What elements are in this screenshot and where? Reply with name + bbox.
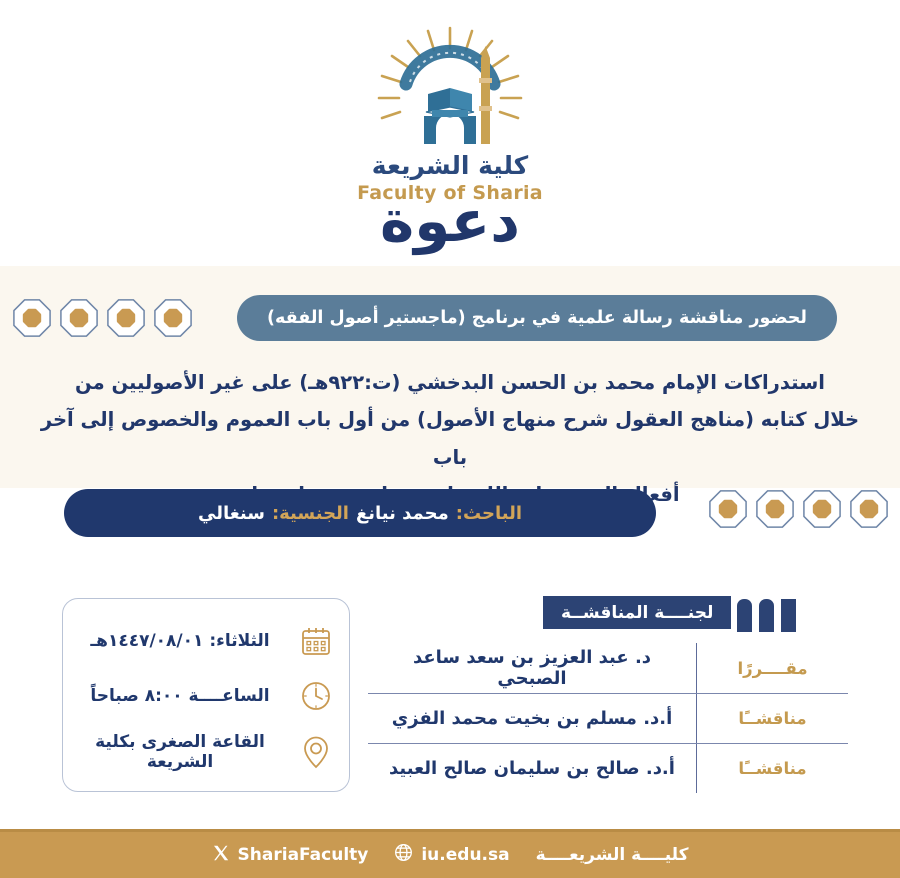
committee-member-role: مناقشــًا	[696, 694, 848, 743]
calendar-icon	[297, 622, 335, 660]
clock-icon	[297, 677, 335, 715]
faculty-name-arabic: كلية الشريعة	[372, 152, 528, 180]
event-location-row: القاعة الصغرى بكلية الشريعة	[77, 732, 335, 772]
location-pin-icon	[297, 733, 335, 771]
event-time-row: الساعــــة ٨:٠٠ صباحاً	[77, 677, 335, 715]
x-twitter-icon	[212, 844, 230, 867]
table-row: مقــــررًا د. عبد العزيز بن سعد ساعد الص…	[368, 643, 848, 693]
committee-heading-block: لجنــــة المناقشــة	[543, 596, 796, 632]
faculty-logo-block: كلية الشريعة Faculty of Sharia	[0, 22, 900, 204]
committee-member-role: مقــــررًا	[696, 643, 848, 693]
program-banner: لحضور مناقشة رسالة علمية في برنامج (ماجس…	[237, 295, 837, 341]
researcher-label: الباحث:	[456, 503, 522, 524]
nationality-label: الجنسية:	[272, 503, 349, 524]
event-date-row: الثلاثاء: ١٤٤٧/٠٨/٠١هـ	[77, 622, 335, 660]
event-details-card: الثلاثاء: ١٤٤٧/٠٨/٠١هـ الساعــــة ٨:٠٠ ص…	[62, 598, 350, 792]
committee-decorative-bars-icon	[737, 596, 796, 632]
table-row: مناقشــًا أ.د. صالح بن سليمان صالح العبي…	[368, 743, 848, 793]
committee-heading: لجنــــة المناقشــة	[543, 596, 731, 629]
globe-icon	[394, 843, 413, 867]
footer-bar: كليــــة الشريعــــة iu.edu.sa ShariaFac…	[0, 832, 900, 878]
committee-member-name: أ.د. مسلم بن بخيت محمد الفزي	[368, 708, 696, 729]
program-banner-text: لحضور مناقشة رسالة علمية في برنامج (ماجس…	[267, 308, 807, 328]
event-time-text: الساعــــة ٨:٠٠ صباحاً	[77, 686, 283, 706]
committee-member-role: مناقشــًا	[696, 744, 848, 793]
islamic-eight-point-star-icon	[700, 481, 756, 541]
university-mosque-emblem-icon	[366, 22, 534, 146]
page-title: دعوة	[0, 192, 900, 250]
researcher-nationality: سنغالي	[198, 503, 265, 524]
footer-faculty-name: كليــــة الشريعــــة	[536, 845, 689, 865]
invitation-poster: كلية الشريعة Faculty of Sharia دعوة لحضو…	[0, 0, 900, 878]
committee-table: مقــــررًا د. عبد العزيز بن سعد ساعد الص…	[368, 643, 848, 793]
footer-website-text: iu.edu.sa	[421, 845, 509, 865]
islamic-eight-point-star-icon	[4, 290, 60, 350]
committee-member-name: د. عبد العزيز بن سعد ساعد الصبحي	[368, 647, 696, 689]
researcher-name: محمد نيانغ	[356, 503, 449, 524]
committee-member-name: أ.د. صالح بن سليمان صالح العبيد	[368, 758, 696, 779]
footer-x-handle-text: ShariaFaculty	[238, 845, 369, 865]
event-location-text: القاعة الصغرى بكلية الشريعة	[77, 732, 283, 772]
thesis-title-line-2: خلال كتابه (مناهج العقول شرح منهاج الأصو…	[36, 401, 864, 476]
event-date-text: الثلاثاء: ١٤٤٧/٠٨/٠١هـ	[77, 631, 283, 651]
footer-x-account[interactable]: ShariaFaculty	[212, 844, 369, 867]
ornament-row-left	[4, 290, 201, 350]
researcher-banner: الباحث: محمد نيانغ الجنسية: سنغالي	[64, 489, 656, 537]
table-row: مناقشــًا أ.د. مسلم بن بخيت محمد الفزي	[368, 693, 848, 743]
ornament-row-right	[700, 481, 897, 541]
thesis-title-line-1: استدراكات الإمام محمد بن الحسن البدخشي (…	[36, 364, 864, 401]
footer-website[interactable]: iu.edu.sa	[394, 843, 509, 867]
